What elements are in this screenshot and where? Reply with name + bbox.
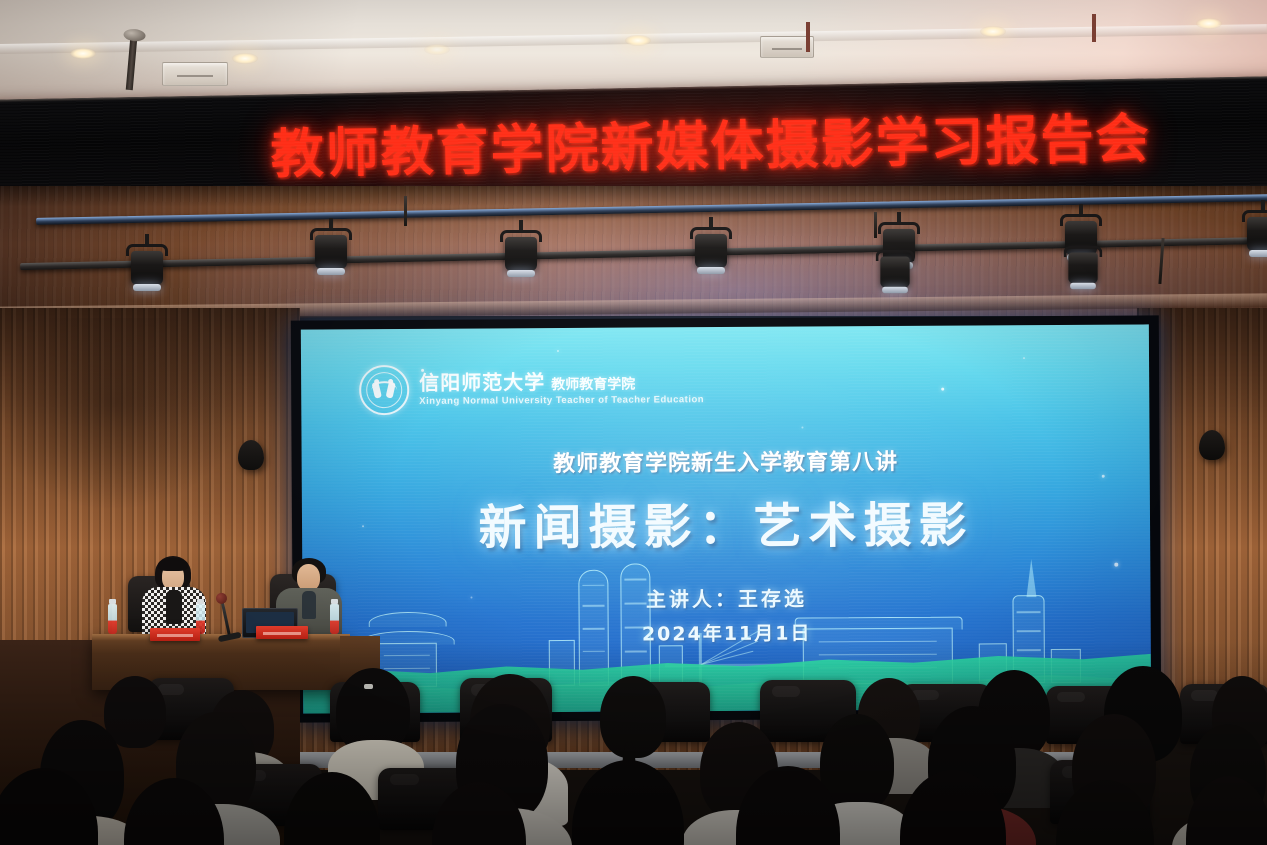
downlight-icon	[232, 53, 258, 64]
downlight-icon	[424, 44, 450, 55]
par-can-stage-light	[1240, 210, 1267, 260]
led-banner-text: 教师教育学院新媒体摄影学习报告会	[0, 94, 1267, 194]
face	[297, 564, 320, 591]
pagoda-building-icon	[369, 612, 447, 627]
wall-speaker-icon	[1199, 430, 1225, 460]
civic-hall-roof-icon	[795, 617, 963, 631]
ceiling-mount-bracket	[1092, 14, 1096, 42]
slide-subtitle: 教师教育学院新生入学教育第八讲	[302, 442, 1150, 479]
water-bottle	[330, 604, 339, 634]
downlight-icon	[625, 35, 651, 46]
red-nameplate	[256, 626, 308, 639]
downlight-icon	[1196, 18, 1222, 29]
slide-title: 新闻摄影：艺术摄影	[302, 484, 1150, 559]
inner-shirt	[302, 591, 316, 619]
slide-logo-en-name: Xinyang Normal University Teacher of Tea…	[419, 395, 704, 407]
water-bottle	[108, 604, 117, 634]
red-nameplate	[150, 628, 200, 641]
ceiling-mount-bracket	[806, 22, 810, 52]
par-can-stage-light	[308, 228, 354, 278]
lecture-hall-photo: 教师教育学院新媒体摄影学习报告会	[0, 0, 1267, 845]
audience-area	[0, 660, 1267, 845]
downlight-icon	[70, 48, 96, 59]
spire-icon	[1026, 559, 1036, 597]
par-can-stage-light	[874, 250, 916, 296]
wall-speaker-icon	[238, 440, 264, 470]
presentation-slide: 信阳师范大学教师教育学院 Xinyang Normal University T…	[301, 324, 1151, 713]
hair-front	[158, 558, 188, 571]
air-vent-icon	[162, 62, 228, 86]
slide-logo-row: 信阳师范大学教师教育学院 Xinyang Normal University T…	[359, 363, 704, 415]
par-can-stage-light	[688, 227, 734, 277]
par-can-stage-light	[498, 230, 544, 280]
par-can-stage-light	[124, 244, 170, 294]
downlight-icon	[980, 26, 1006, 37]
light-hanger-rod	[404, 196, 407, 226]
slide-logo-cn-name: 信阳师范大学	[419, 370, 545, 395]
par-can-stage-light	[1062, 246, 1104, 292]
university-emblem-icon	[359, 365, 409, 415]
inner-top	[166, 590, 182, 624]
slide-logo-cn-dept: 教师教育学院	[551, 377, 635, 394]
